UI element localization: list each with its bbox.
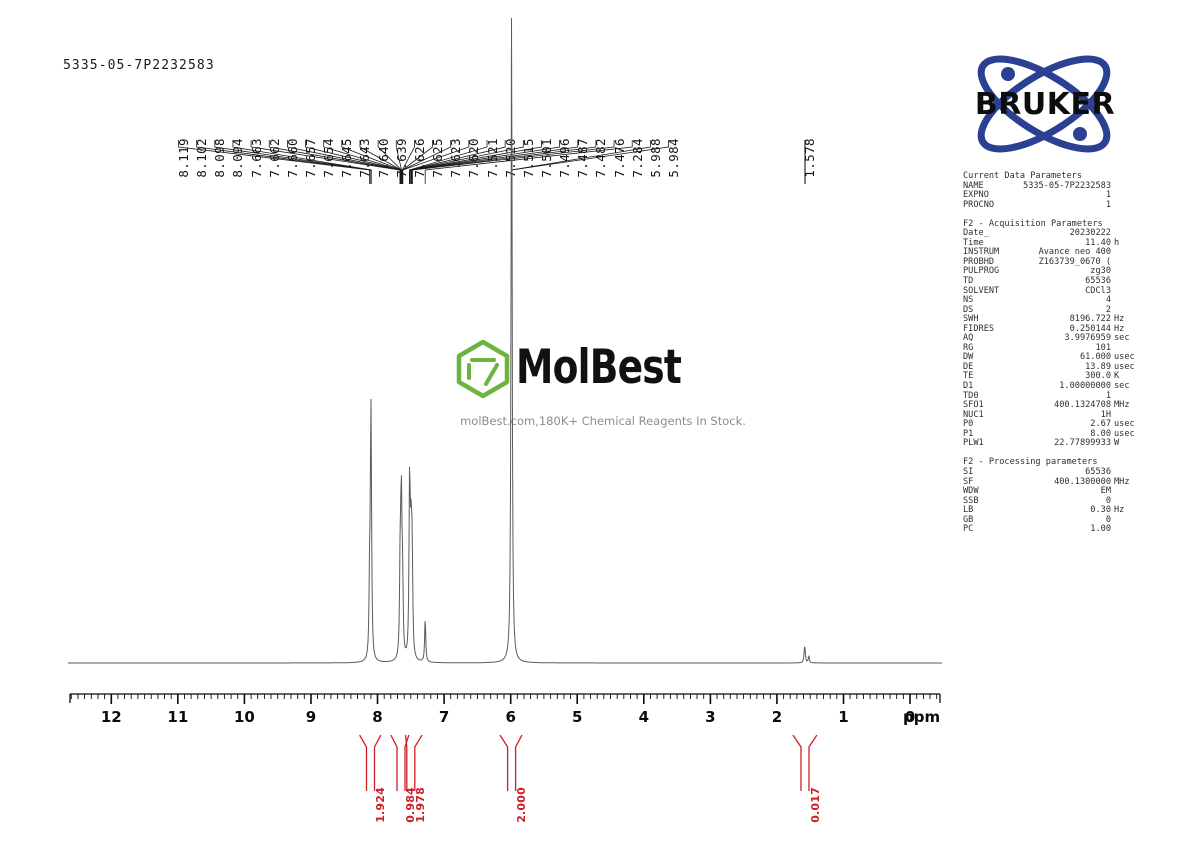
axis-tick-label: 12 <box>101 708 122 726</box>
ppm-axis: ppm 1211109876543210 <box>0 688 960 733</box>
integral-value: 1.978 <box>414 787 427 823</box>
nmr-spectrum-page: 5335-05-7P2232583 8.1198.1028.0988.0947.… <box>0 0 1190 842</box>
axis-tick-label: 10 <box>234 708 255 726</box>
axis-tick-label: 2 <box>772 708 782 726</box>
axis-tick-label: 3 <box>705 708 715 726</box>
axis-tick-label: 1 <box>838 708 848 726</box>
axis-tick-label: 11 <box>167 708 188 726</box>
integral-value: 0.017 <box>809 787 822 823</box>
axis-tick-label: 8 <box>372 708 382 726</box>
integral-group: 1.9240.9841.9782.0000.017 <box>0 735 960 795</box>
axis-tick-label: 7 <box>439 708 449 726</box>
axis-tick-label: 4 <box>639 708 649 726</box>
integral-value: 2.000 <box>515 787 528 823</box>
axis-tick-label: 5 <box>572 708 582 726</box>
axis-ticks <box>0 688 960 708</box>
integral-value: 1.924 <box>374 787 387 823</box>
axis-tick-label: 0 <box>905 708 915 726</box>
integral-brackets <box>0 735 960 795</box>
axis-tick-label: 6 <box>505 708 515 726</box>
axis-tick-label: 9 <box>306 708 316 726</box>
